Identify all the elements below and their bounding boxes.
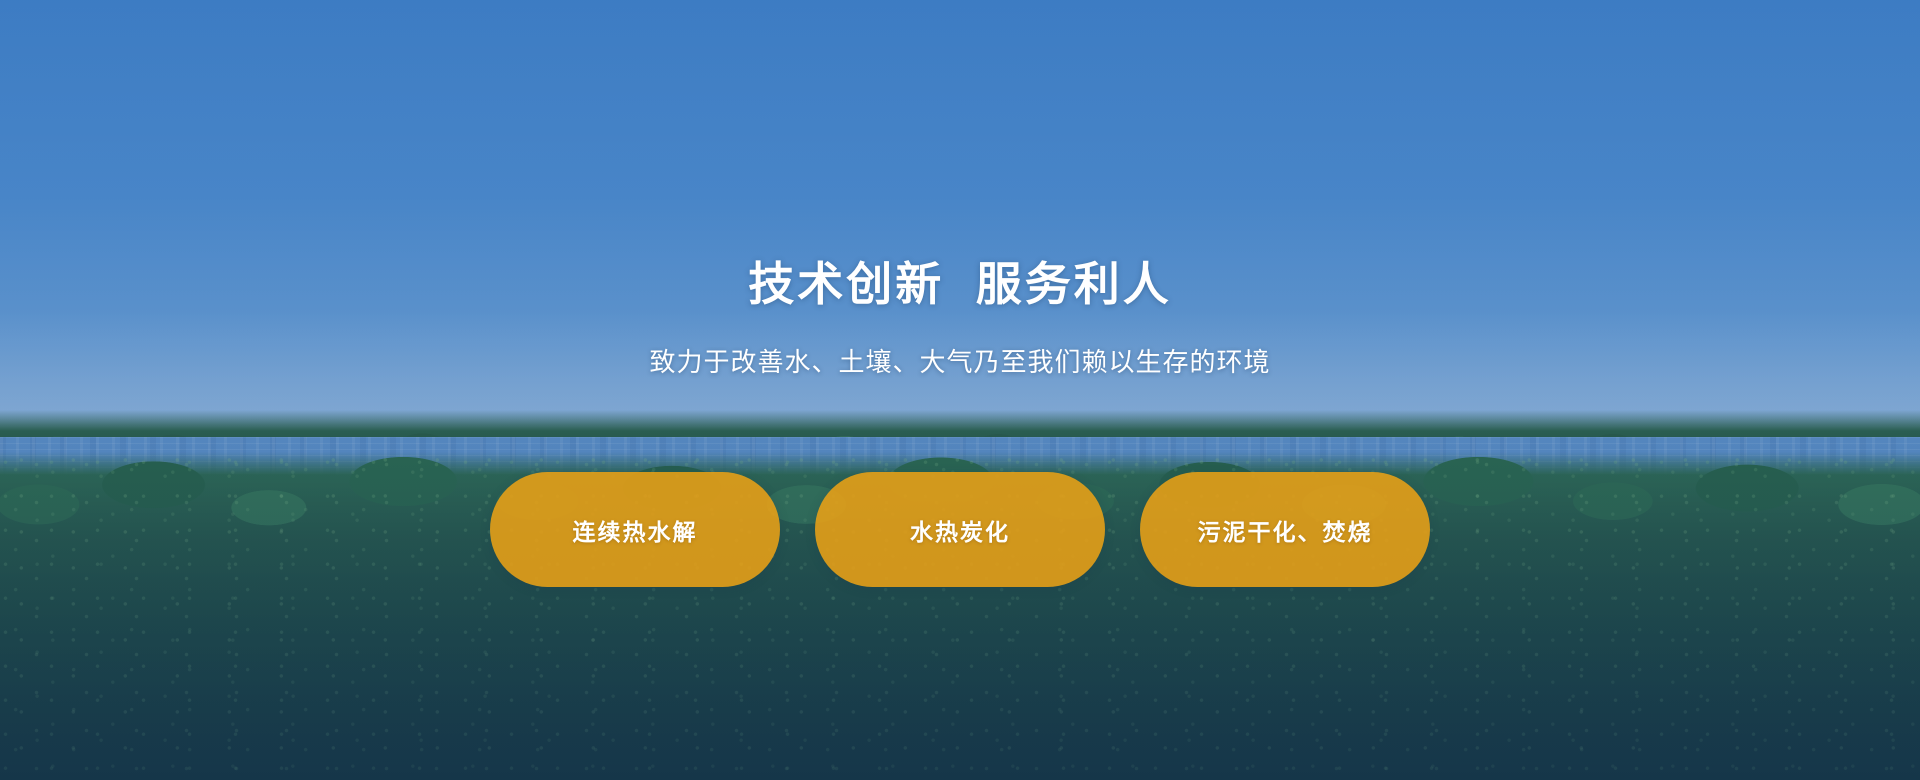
hero-banner: 技术创新 服务利人 致力于改善水、土壤、大气乃至我们赖以生存的环境 连续热水解 … xyxy=(0,0,1920,780)
cta-button-hydrothermal-carbonization[interactable]: 水热炭化 xyxy=(815,472,1105,587)
cta-button-sludge-drying-incineration[interactable]: 污泥干化、焚烧 xyxy=(1140,472,1430,587)
page-title: 技术创新 服务利人 xyxy=(0,258,1920,311)
cta-button-continuous-thermal-hydrolysis[interactable]: 连续热水解 xyxy=(490,472,780,587)
hero-content: 技术创新 服务利人 致力于改善水、土壤、大气乃至我们赖以生存的环境 连续热水解 … xyxy=(0,0,1920,780)
cta-button-row: 连续热水解 水热炭化 污泥干化、焚烧 xyxy=(0,472,1920,587)
page-subtitle: 致力于改善水、土壤、大气乃至我们赖以生存的环境 xyxy=(0,346,1920,380)
